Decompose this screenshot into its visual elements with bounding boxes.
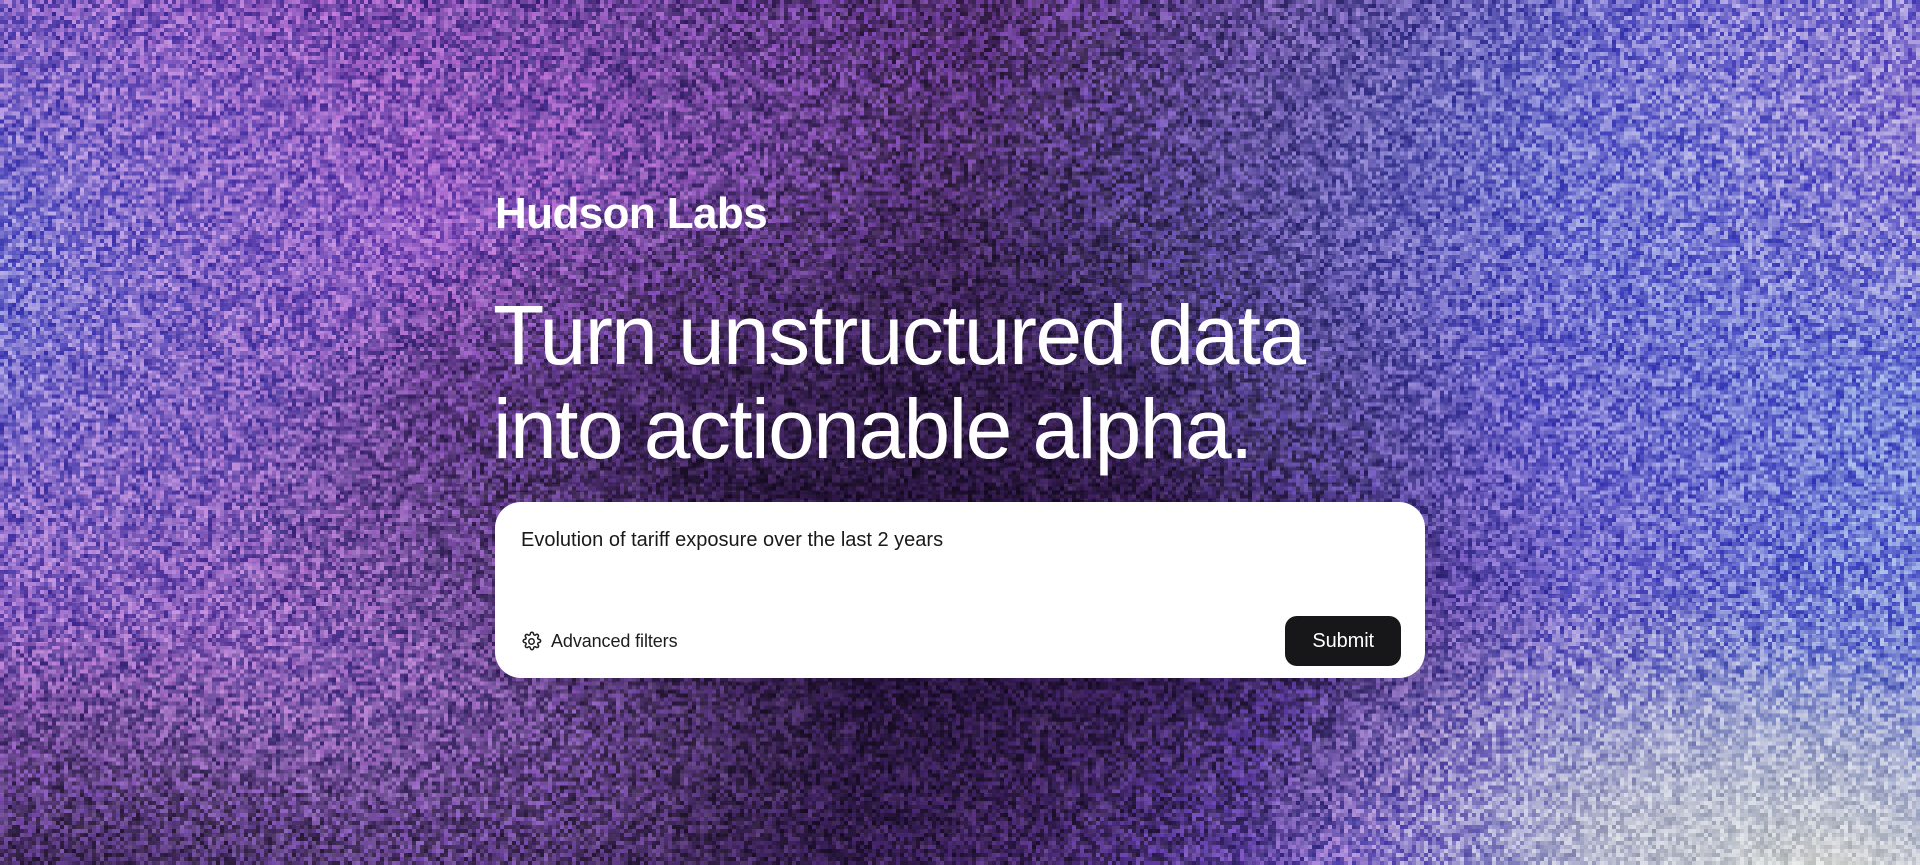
page-title: Turn unstructured data into actionable a… bbox=[493, 288, 1305, 476]
search-card: Advanced filters Submit bbox=[495, 502, 1425, 678]
brand-logo: Hudson Labs bbox=[495, 192, 767, 236]
headline-line-2: into actionable alpha. bbox=[493, 382, 1305, 476]
search-card-footer: Advanced filters Submit bbox=[495, 604, 1425, 678]
advanced-filters-button[interactable]: Advanced filters bbox=[521, 631, 677, 652]
search-input[interactable] bbox=[517, 518, 1403, 602]
gear-icon-wrapper bbox=[521, 631, 542, 652]
gear-icon bbox=[521, 631, 542, 652]
advanced-filters-label: Advanced filters bbox=[551, 631, 677, 652]
headline-line-1: Turn unstructured data bbox=[493, 288, 1305, 382]
submit-button[interactable]: Submit bbox=[1285, 616, 1401, 666]
hero-section: Hudson Labs Turn unstructured data into … bbox=[0, 0, 1920, 865]
